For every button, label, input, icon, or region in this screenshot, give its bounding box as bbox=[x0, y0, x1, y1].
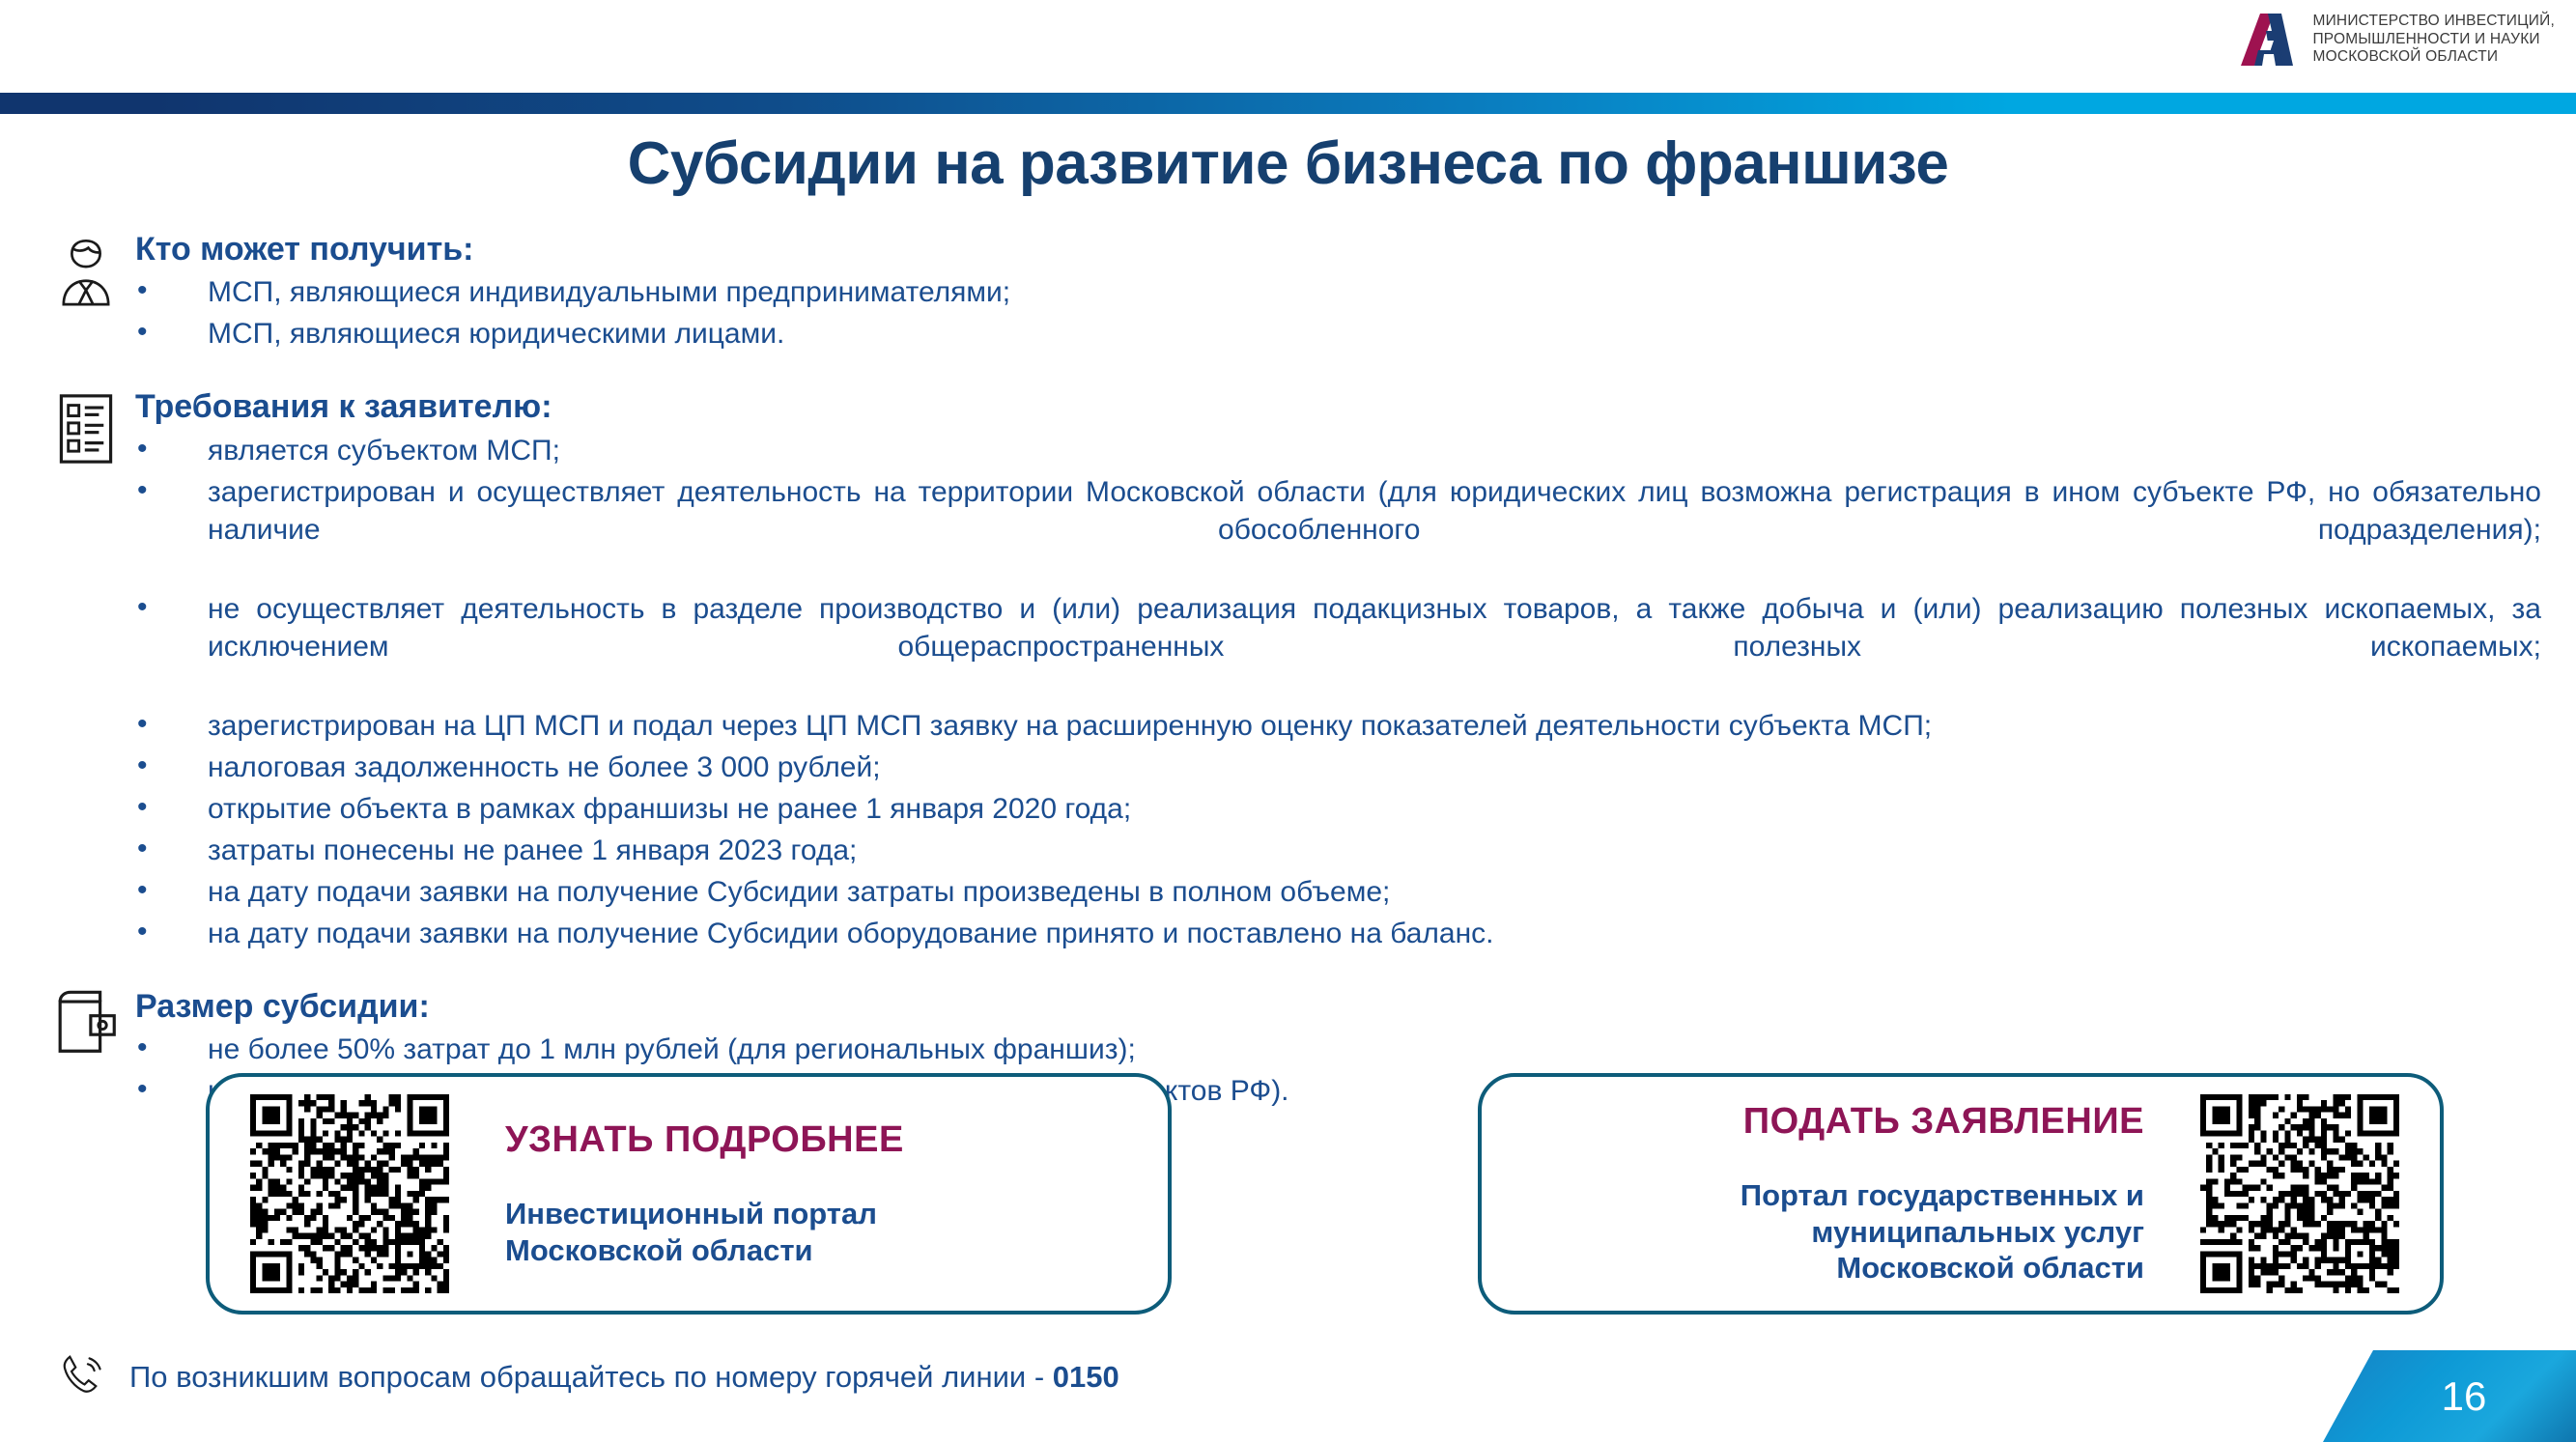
section-who-can-receive: Кто может получить: МСП, являющиеся инди… bbox=[0, 232, 2576, 353]
footer-text: По возникшим вопросам обращайтесь по ном… bbox=[129, 1362, 1119, 1392]
list-item: МСП, являющиеся индивидуальными предприн… bbox=[0, 273, 2576, 311]
card-learn-more[interactable]: УЗНАТЬ ПОДРОБНЕЕ Инвестиционный портал М… bbox=[206, 1073, 1172, 1315]
card-title: ПОДАТЬ ЗАЯВЛЕНИЕ bbox=[1511, 1101, 2144, 1143]
card-text-block: УЗНАТЬ ПОДРОБНЕЕ Инвестиционный портал М… bbox=[449, 1119, 1139, 1269]
footer-hotline: По возникшим вопросам обращайтесь по ном… bbox=[56, 1350, 1119, 1402]
footer-message: По возникшим вопросам обращайтесь по ном… bbox=[129, 1360, 1053, 1394]
card-text-block: ПОДАТЬ ЗАЯВЛЕНИЕ Портал государственных … bbox=[1511, 1101, 2200, 1286]
section-applicant-requirements: Требования к заявителю: является субъект… bbox=[0, 389, 2576, 951]
list-item: открытие объекта в рамках франшизы не ра… bbox=[0, 790, 2576, 828]
list-item: не осуществляет деятельность в разделе п… bbox=[0, 590, 2576, 703]
ministry-logo-text: МИНИСТЕРСТВО ИНВЕСТИЦИЙ, ПРОМЫШЛЕННОСТИ … bbox=[2312, 13, 2555, 68]
phone-icon bbox=[56, 1350, 108, 1402]
card-subtitle: Портал государственных и муниципальных у… bbox=[1511, 1177, 2144, 1286]
list-item: налоговая задолженность не более 3 000 р… bbox=[0, 749, 2576, 786]
qr-code-icon bbox=[250, 1094, 449, 1293]
list-item: зарегистрирован и осуществляет деятельно… bbox=[0, 473, 2576, 586]
page-number-badge: 16 bbox=[2323, 1350, 2576, 1442]
page-title: Субсидии на развитие бизнеса по франшизе bbox=[0, 129, 2576, 198]
ministry-logo: МИНИСТЕРСТВО ИНВЕСТИЦИЙ, ПРОМЫШЛЕННОСТИ … bbox=[2241, 12, 2555, 68]
list-item: МСП, являющиеся юридическими лицами. bbox=[0, 315, 2576, 353]
slide: МИНИСТЕРСТВО ИНВЕСТИЦИЙ, ПРОМЫШЛЕННОСТИ … bbox=[0, 0, 2576, 1442]
section-heading: Кто может получить: bbox=[135, 232, 2576, 268]
card-title: УЗНАТЬ ПОДРОБНЕЕ bbox=[505, 1119, 1139, 1161]
section-heading: Требования к заявителю: bbox=[135, 389, 2576, 425]
ministry-logo-icon bbox=[2241, 12, 2299, 68]
card-submit-application[interactable]: ПОДАТЬ ЗАЯВЛЕНИЕ Портал государственных … bbox=[1478, 1073, 2444, 1315]
section-bullet-list: является субъектом МСП; зарегистрирован … bbox=[0, 432, 2576, 952]
list-item: на дату подачи заявки на получение Субси… bbox=[0, 915, 2576, 952]
section-heading: Размер субсидии: bbox=[135, 989, 2576, 1025]
list-item: зарегистрирован на ЦП МСП и подал через … bbox=[0, 707, 2576, 745]
list-item: на дату подачи заявки на получение Субси… bbox=[0, 873, 2576, 911]
list-item: не более 50% затрат до 1 млн рублей (для… bbox=[0, 1031, 2576, 1068]
section-bullet-list: МСП, являющиеся индивидуальными предприн… bbox=[0, 273, 2576, 353]
list-item: затраты понесены не ранее 1 января 2023 … bbox=[0, 832, 2576, 869]
content-area: Кто может получить: МСП, являющиеся инди… bbox=[0, 232, 2576, 1114]
qr-code-icon bbox=[2200, 1094, 2399, 1293]
hotline-number: 0150 bbox=[1053, 1360, 1119, 1394]
header-accent-bar bbox=[0, 93, 2576, 114]
card-subtitle: Инвестиционный портал Московской области bbox=[505, 1196, 1139, 1269]
list-item: является субъектом МСП; bbox=[0, 432, 2576, 469]
qr-cards: УЗНАТЬ ПОДРОБНЕЕ Инвестиционный портал М… bbox=[0, 1073, 2576, 1315]
